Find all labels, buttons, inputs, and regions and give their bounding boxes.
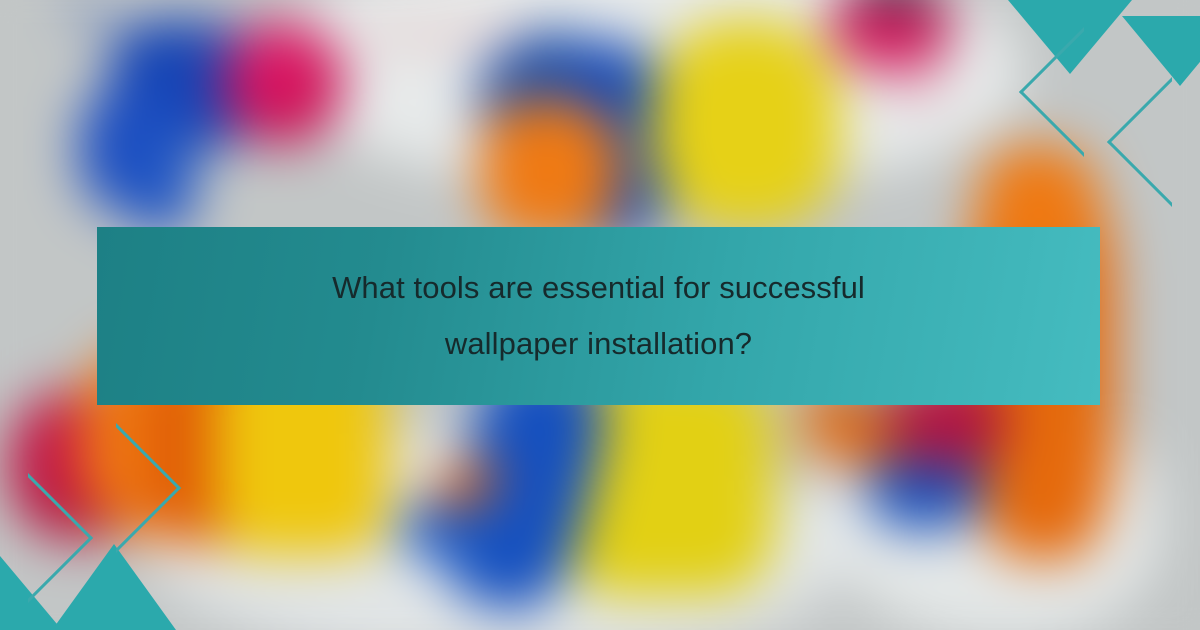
blob-blue-upper-left-foot	[125, 130, 195, 230]
blob-pink-faint-right	[890, 58, 942, 102]
headline-banner: What tools are essential for successful …	[97, 227, 1100, 405]
headline-line-2: wallpaper installation?	[445, 316, 752, 372]
headline-line-1: What tools are essential for successful	[332, 260, 865, 316]
blob-orange-center-upper	[480, 100, 620, 240]
blob-magenta-ball	[222, 22, 344, 144]
social-card: What tools are essential for successful …	[0, 0, 1200, 630]
blob-blue-speck	[72, 0, 102, 20]
blob-magenta-top-right	[832, 0, 950, 70]
blob-yellow-center	[650, 20, 840, 230]
